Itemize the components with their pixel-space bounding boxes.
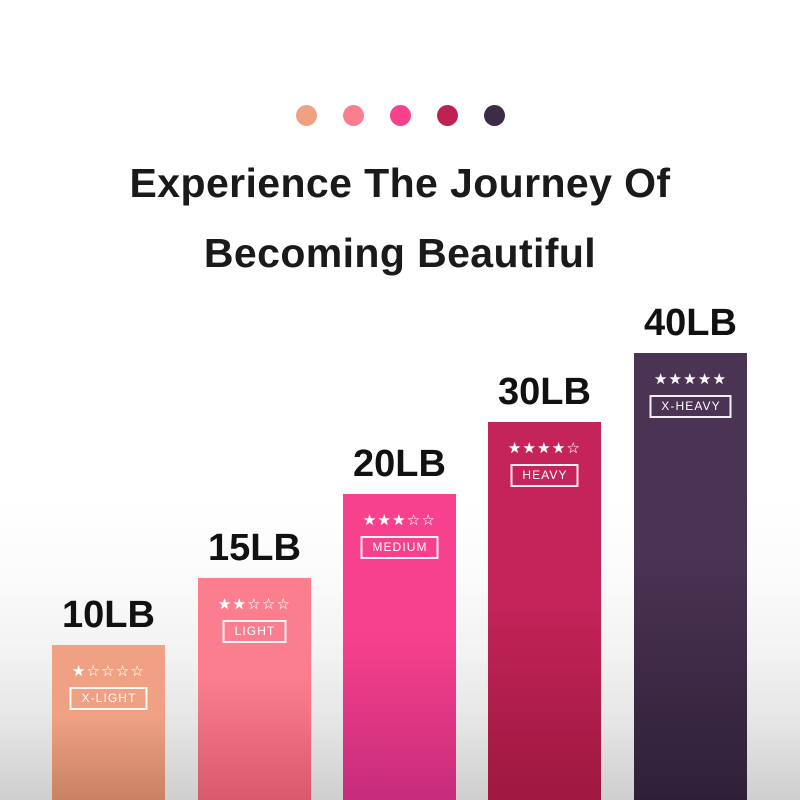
star-rating: ★☆☆☆☆ xyxy=(52,663,165,681)
star-rating: ★★★☆☆ xyxy=(343,512,456,530)
resistance-band-bar-chart: 10LB★☆☆☆☆X-LIGHT15LB★★☆☆☆LIGHT20LB★★★☆☆M… xyxy=(0,0,800,800)
bar-badge: ★★★☆☆MEDIUM xyxy=(343,512,456,559)
bar-weight-label: 20LB xyxy=(353,443,446,486)
bar-group-15lb[interactable]: 15LB★★☆☆☆LIGHT xyxy=(198,508,311,800)
tier-label: X-HEAVY xyxy=(649,395,732,418)
tier-label-wrapper: MEDIUM xyxy=(343,530,456,559)
tier-label: LIGHT xyxy=(223,620,287,643)
tier-label-wrapper: X-LIGHT xyxy=(52,681,165,710)
bar-group-30lb[interactable]: 30LB★★★★☆HEAVY xyxy=(488,352,601,800)
bar-column[interactable]: ★★☆☆☆LIGHT xyxy=(198,578,311,800)
bar-weight-label: 10LB xyxy=(62,594,155,637)
star-rating: ★★☆☆☆ xyxy=(198,596,311,614)
tier-label: HEAVY xyxy=(510,464,578,487)
star-rating: ★★★★☆ xyxy=(488,440,601,458)
bar-column[interactable]: ★★★★★X-HEAVY xyxy=(634,353,747,800)
bar-fill xyxy=(634,353,747,800)
tier-label: MEDIUM xyxy=(360,536,438,559)
bar-group-20lb[interactable]: 20LB★★★☆☆MEDIUM xyxy=(343,424,456,800)
bar-badge: ★★★★☆HEAVY xyxy=(488,440,601,487)
bar-badge: ★★☆☆☆LIGHT xyxy=(198,596,311,643)
bar-column[interactable]: ★★★☆☆MEDIUM xyxy=(343,494,456,800)
bar-weight-label: 30LB xyxy=(498,371,591,414)
bar-weight-label: 40LB xyxy=(644,302,737,345)
bar-badge: ★☆☆☆☆X-LIGHT xyxy=(52,663,165,710)
tier-label-wrapper: X-HEAVY xyxy=(634,389,747,418)
tier-label: X-LIGHT xyxy=(69,687,147,710)
bar-group-10lb[interactable]: 10LB★☆☆☆☆X-LIGHT xyxy=(52,575,165,800)
bar-column[interactable]: ★☆☆☆☆X-LIGHT xyxy=(52,645,165,800)
bar-badge: ★★★★★X-HEAVY xyxy=(634,371,747,418)
bar-weight-label: 15LB xyxy=(208,527,301,570)
bar-group-40lb[interactable]: 40LB★★★★★X-HEAVY xyxy=(634,283,747,800)
star-rating: ★★★★★ xyxy=(634,371,747,389)
bar-column[interactable]: ★★★★☆HEAVY xyxy=(488,422,601,800)
tier-label-wrapper: LIGHT xyxy=(198,614,311,643)
tier-label-wrapper: HEAVY xyxy=(488,458,601,487)
